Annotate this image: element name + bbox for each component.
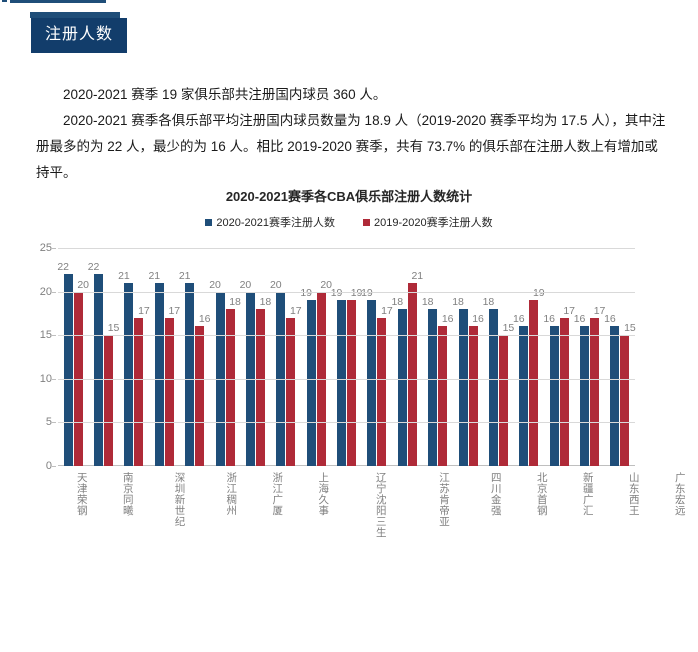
data-label-series-1: 19 [326, 287, 348, 299]
y-axis-tick-mark [52, 335, 56, 336]
data-label-series-1: 16 [599, 313, 621, 325]
bar-series-2[interactable] [286, 318, 295, 466]
bar-series-1[interactable] [580, 326, 589, 466]
data-label-series-2: 15 [619, 322, 641, 334]
y-axis-tick-label: 25 [18, 242, 52, 254]
y-axis-tick-mark [52, 248, 56, 249]
bar-pair [514, 248, 544, 466]
bar-group: 1919 [331, 248, 361, 466]
bar-group: 1615 [605, 248, 635, 466]
y-axis-tick-mark [52, 379, 56, 380]
bar-series-2[interactable] [408, 283, 417, 466]
y-axis-tick-label: 15 [18, 329, 52, 341]
gridline [58, 292, 635, 293]
gridline [58, 422, 635, 423]
bar-series-2[interactable] [438, 326, 447, 466]
y-axis-tick-mark [52, 466, 56, 467]
data-label-series-1: 20 [265, 279, 287, 291]
gridline [58, 335, 635, 336]
clipped-bullet-marker [2, 0, 7, 2]
bar-series-1[interactable] [610, 326, 619, 466]
legend-swatch-series-1 [205, 219, 212, 226]
top-clipped-decoration [0, 0, 698, 16]
bar-series-1[interactable] [519, 326, 528, 466]
bar-series-1[interactable] [307, 300, 316, 466]
y-axis-tick-label: 5 [18, 416, 52, 428]
bar-series-2[interactable] [377, 318, 386, 466]
data-label-series-1: 20 [234, 279, 256, 291]
bar-group: 1617 [544, 248, 574, 466]
bar-pair [362, 248, 392, 466]
bar-series-1[interactable] [367, 300, 376, 466]
data-label-series-1: 19 [356, 287, 378, 299]
section-badge-wrapper: 注册人数 [31, 18, 127, 53]
bar-series-2[interactable] [560, 318, 569, 466]
x-axis-label: 新疆广汇 [564, 472, 610, 549]
x-axis-label: 天津荣钢 [58, 472, 104, 549]
bar-series-2[interactable] [499, 335, 508, 466]
bar-group: 1816 [453, 248, 483, 466]
clipped-heading-bar-upper [10, 0, 106, 3]
x-axis-label: 浙江稠州 [208, 472, 254, 549]
data-label-series-1: 22 [52, 261, 74, 273]
paragraph-2: 2020-2021 赛季各俱乐部平均注册国内球员数量为 18.9 人（2019-… [36, 108, 666, 186]
x-axis-label: 山东西王 [610, 472, 656, 549]
bar-group: 2220 [58, 248, 88, 466]
bar-series-1[interactable] [459, 309, 468, 466]
bar-group: 2017 [271, 248, 301, 466]
y-axis-tick-label: 10 [18, 373, 52, 385]
bar-pair [483, 248, 513, 466]
data-label-series-1: 16 [569, 313, 591, 325]
x-axis-label: 辽宁沈阳三生 [346, 472, 415, 549]
bar-group: 1821 [392, 248, 422, 466]
bar-pair [605, 248, 635, 466]
x-axis-label: 南京同曦 [104, 472, 150, 549]
legend-swatch-series-2 [363, 219, 370, 226]
bar-series-2[interactable] [226, 309, 235, 466]
bar-series-1[interactable] [398, 309, 407, 466]
bar-series-2[interactable] [134, 318, 143, 466]
data-label-series-1: 19 [295, 287, 317, 299]
data-label-series-1: 18 [477, 296, 499, 308]
legend-item-series-2: 2019-2020赛季注册人数 [363, 214, 493, 230]
x-axis-label: 深圳新世纪 [150, 472, 208, 549]
data-label-series-1: 21 [113, 270, 135, 282]
data-label-series-1: 18 [386, 296, 408, 308]
x-axis-label: 北京首钢 [518, 472, 564, 549]
bar-series-1[interactable] [550, 326, 559, 466]
bar-series-2[interactable] [590, 318, 599, 466]
bar-pair [331, 248, 361, 466]
y-axis-tick-mark [52, 292, 56, 293]
bar-group: 1619 [514, 248, 544, 466]
section-badge: 注册人数 [31, 18, 127, 53]
chart-legend: 2020-2021赛季注册人数 2019-2020赛季注册人数 [0, 214, 698, 230]
bar-series-1[interactable] [94, 274, 103, 466]
data-label-series-1: 18 [417, 296, 439, 308]
data-label-series-1: 21 [143, 270, 165, 282]
bar-series-2[interactable] [469, 326, 478, 466]
legend-item-series-1: 2020-2021赛季注册人数 [205, 214, 335, 230]
bar-series-1[interactable] [185, 283, 194, 466]
bar-series-2[interactable] [256, 309, 265, 466]
data-label-series-1: 22 [83, 261, 105, 273]
paragraph-1: 2020-2021 赛季 19 家俱乐部共注册国内球员 360 人。 [36, 82, 666, 108]
x-axis-label: 江苏肯帝亚 [415, 472, 473, 549]
registration-bar-chart: 2020-2021赛季各CBA俱乐部注册人数统计 2020-2021赛季注册人数… [0, 186, 698, 566]
data-label-series-1: 21 [174, 270, 196, 282]
legend-label-series-2: 2019-2020赛季注册人数 [374, 214, 493, 230]
x-axis-label: 浙江广厦 [254, 472, 300, 549]
bar-group: 1617 [574, 248, 604, 466]
bar-pair [544, 248, 574, 466]
data-label-series-1: 20 [204, 279, 226, 291]
y-axis-tick-label: 0 [18, 460, 52, 472]
bar-pair [453, 248, 483, 466]
legend-label-series-1: 2020-2021赛季注册人数 [216, 214, 335, 230]
bar-group: 1815 [483, 248, 513, 466]
y-axis-tick-label: 20 [18, 286, 52, 298]
bar-group: 1816 [423, 248, 453, 466]
bar-series-2[interactable] [347, 300, 356, 466]
bar-series-2[interactable] [165, 318, 174, 466]
chart-bar-groups: 2220221521172117211620182018201719201919… [58, 248, 635, 466]
x-axis-label: 上海久事 [300, 472, 346, 549]
bar-series-2[interactable] [195, 326, 204, 466]
bar-series-2[interactable] [529, 300, 538, 466]
x-axis-labels: 天津荣钢南京同曦深圳新世纪浙江稠州浙江广厦上海久事辽宁沈阳三生江苏肯帝亚四川金强… [58, 472, 635, 549]
chart-plot-area: 2220221521172117211620182018201719201919… [58, 248, 635, 466]
x-axis-label: 广东宏远 [656, 472, 698, 549]
gridline [58, 379, 635, 380]
body-copy: 2020-2021 赛季 19 家俱乐部共注册国内球员 360 人。 2020-… [36, 82, 666, 186]
chart-title: 2020-2021赛季各CBA俱乐部注册人数统计 [0, 186, 698, 205]
data-label-series-1: 16 [538, 313, 560, 325]
bar-group: 1917 [362, 248, 392, 466]
bar-pair [423, 248, 453, 466]
bar-series-1[interactable] [64, 274, 73, 466]
y-axis-tick-mark [52, 422, 56, 423]
chart-plot: 2220221521172117211620182018201719201919… [58, 248, 635, 652]
bar-series-2[interactable] [104, 335, 113, 466]
bar-series-1[interactable] [337, 300, 346, 466]
bar-group: 1920 [301, 248, 331, 466]
bar-series-1[interactable] [428, 309, 437, 466]
bar-pair [574, 248, 604, 466]
gridline [58, 248, 635, 249]
bar-series-2[interactable] [620, 335, 629, 466]
x-axis-label: 四川金强 [472, 472, 518, 549]
data-label-series-1: 16 [508, 313, 530, 325]
data-label-series-1: 18 [447, 296, 469, 308]
